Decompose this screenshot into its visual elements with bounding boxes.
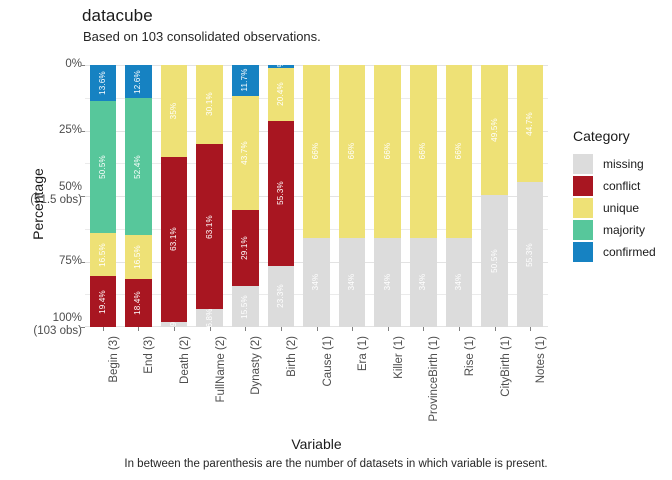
bar-segment-confirmed[interactable]: 12.6% — [125, 65, 152, 98]
bar-segment-label: 34% — [419, 274, 427, 291]
bar-segment-unique[interactable]: 66% — [303, 65, 330, 238]
y-tick-obs: (103 obs) — [33, 325, 82, 338]
bar-stack: 66%34% — [303, 65, 330, 327]
x-axis-tick-mark — [530, 327, 531, 331]
legend-item-label: conflict — [603, 179, 640, 193]
legend-item-label: majority — [603, 223, 645, 237]
legend-color-swatch — [573, 154, 593, 174]
bar-segment-label: 50.5% — [99, 155, 107, 179]
bar-column[interactable]: 44.7%55.3% — [512, 65, 548, 327]
bar-segment-label: 23.3% — [277, 285, 285, 309]
plot-panel: 13.6%50.5%16.5%19.4%12.6%52.4%16.5%18.4%… — [85, 65, 548, 327]
bar-column[interactable]: 66%34% — [441, 65, 477, 327]
bar-column[interactable]: 66%34% — [299, 65, 335, 327]
legend-item-label: confirmed — [603, 245, 656, 259]
y-axis-tick-mark — [81, 327, 85, 328]
bar-column[interactable]: 1%20.4%55.3%23.3% — [263, 65, 299, 327]
bar-stack: 44.7%55.3% — [517, 65, 544, 327]
y-axis-label: Percentage — [30, 144, 46, 264]
bar-stack: 35%63.1%1.9% — [161, 65, 188, 327]
legend-color-swatch — [573, 198, 593, 218]
bar-segment-unique[interactable]: 66% — [410, 65, 437, 238]
bar-segment-label: 55.3% — [277, 182, 285, 206]
x-axis-tick-label: ProvinceBirth (1) — [428, 336, 440, 422]
bar-segment-label: 34% — [312, 274, 320, 291]
bar-segment-unique[interactable]: 35% — [161, 65, 188, 157]
bar-column[interactable]: 30.1%63.1%6.8% — [192, 65, 228, 327]
x-axis-tick-label: Dynasty (2) — [250, 336, 262, 395]
bar-segment-conflict[interactable]: 29.1% — [232, 210, 259, 286]
bar-stack: 66%34% — [374, 65, 401, 327]
legend-item-majority[interactable]: majority — [573, 219, 656, 241]
x-axis-tick-label: Killer (1) — [393, 336, 405, 379]
bar-stack: 30.1%63.1%6.8% — [196, 65, 223, 327]
legend-title: Category — [573, 128, 656, 144]
bar-column[interactable]: 66%34% — [405, 65, 441, 327]
bar-segment-confirmed[interactable]: 13.6% — [90, 65, 117, 101]
bar-segment-label: 34% — [455, 274, 463, 291]
bar-segment-label: 44.7% — [526, 112, 534, 136]
legend-color-swatch — [573, 220, 593, 240]
bar-segment-missing[interactable]: 55.3% — [517, 182, 544, 327]
bar-segment-unique[interactable]: 16.5% — [90, 233, 117, 276]
bar-segment-unique[interactable]: 30.1% — [196, 65, 223, 144]
bar-segment-label: 63.1% — [170, 228, 178, 252]
bar-segment-unique[interactable]: 43.7% — [232, 96, 259, 210]
bar-segment-missing[interactable]: 15.5% — [232, 286, 259, 327]
bar-segment-missing[interactable]: 23.3% — [268, 266, 295, 327]
bar-segment-label: 66% — [312, 143, 320, 160]
bar-segment-label: 6.8% — [206, 309, 214, 327]
bar-segment-label: 11.7% — [241, 69, 249, 92]
bar-segment-majority[interactable]: 50.5% — [90, 101, 117, 233]
bar-segment-label: 16.5% — [99, 243, 107, 267]
bar-segment-label: 52.4% — [134, 155, 142, 179]
bar-column[interactable]: 12.6%52.4%16.5%18.4% — [121, 65, 157, 327]
bar-column[interactable]: 66%34% — [334, 65, 370, 327]
legend-item-confirmed[interactable]: confirmed — [573, 241, 656, 263]
bar-segment-confirmed[interactable]: 11.7% — [232, 65, 259, 96]
bar-stack: 49.5%50.5% — [481, 65, 508, 327]
y-tick-value: 0% — [65, 58, 82, 71]
bar-segment-label: 66% — [384, 143, 392, 160]
bar-segment-unique[interactable]: 20.4% — [268, 68, 295, 121]
x-axis-tick-label: Era (1) — [357, 336, 369, 371]
legend-items: missingconflictuniquemajorityconfirmed — [573, 153, 656, 263]
legend-color-swatch — [573, 176, 593, 196]
bar-segment-missing[interactable]: 34% — [374, 238, 401, 327]
bar-segment-label: 35% — [170, 103, 178, 120]
bar-column[interactable]: 49.5%50.5% — [477, 65, 513, 327]
chart-container: datacube Based on 103 consolidated obser… — [0, 0, 672, 480]
bar-segment-conflict[interactable]: 19.4% — [90, 276, 117, 327]
bar-column[interactable]: 13.6%50.5%16.5%19.4% — [85, 65, 121, 327]
x-axis-tick-mark — [210, 327, 211, 331]
bar-column[interactable]: 66%34% — [370, 65, 406, 327]
legend-item-label: missing — [603, 157, 644, 171]
x-axis-tick-label: Cause (1) — [322, 336, 334, 387]
bar-segment-label: 66% — [419, 143, 427, 160]
bar-segment-label: 29.1% — [241, 236, 249, 260]
x-axis-tick-mark — [138, 327, 139, 331]
bar-segment-label: 20.4% — [277, 82, 285, 106]
bar-segment-conflict[interactable]: 63.1% — [161, 157, 188, 322]
bar-segment-label: 50.5% — [491, 249, 499, 273]
legend-color-swatch — [573, 242, 593, 262]
bar-stack: 66%34% — [339, 65, 366, 327]
x-axis-tick-label: Begin (3) — [108, 336, 120, 383]
legend-item-conflict[interactable]: conflict — [573, 175, 656, 197]
x-axis-label: Variable — [85, 436, 548, 452]
x-axis-tick-label: CityBirth (1) — [500, 336, 512, 397]
x-axis-tick-mark — [352, 327, 353, 331]
bar-segment-label: 49.5% — [491, 118, 499, 142]
bar-segment-label: 15.5% — [241, 295, 249, 319]
bar-segment-majority[interactable]: 52.4% — [125, 98, 152, 235]
y-tick-value: 100% — [33, 312, 82, 325]
x-axis-tick-mark — [495, 327, 496, 331]
bar-segment-label: 34% — [348, 274, 356, 291]
bar-segment-label: 18.4% — [134, 291, 142, 315]
x-axis-tick-label: End (3) — [143, 336, 155, 374]
bar-stack: 66%34% — [446, 65, 473, 327]
x-axis-tick-mark — [174, 327, 175, 331]
y-axis-tick-label: 100%(103 obs) — [33, 312, 82, 338]
y-tick-value: 75% — [59, 255, 82, 268]
bar-segment-label: 34% — [384, 274, 392, 291]
legend-item-label: unique — [603, 201, 639, 215]
bar-segment-label: 43.7% — [241, 141, 249, 165]
x-axis-tick-label: Death (2) — [179, 336, 191, 384]
bar-segment-unique[interactable]: 66% — [374, 65, 401, 238]
plot-caption: In between the parenthesis are the numbe… — [0, 458, 672, 470]
bar-stack: 66%34% — [410, 65, 437, 327]
legend-item-missing[interactable]: missing — [573, 153, 656, 175]
bar-segment-unique[interactable]: 16.5% — [125, 235, 152, 278]
bar-segment-missing[interactable]: 34% — [410, 238, 437, 327]
bar-segment-label: 66% — [455, 143, 463, 160]
plot-subtitle: Based on 103 consolidated observations. — [83, 29, 321, 44]
bar-segment-label: 13.6% — [99, 71, 107, 95]
bar-segment-label: 19.4% — [99, 290, 107, 314]
bar-segment-label: 63.1% — [206, 215, 214, 239]
bar-series-group: 13.6%50.5%16.5%19.4%12.6%52.4%16.5%18.4%… — [85, 65, 548, 327]
x-axis-tick-mark — [388, 327, 389, 331]
bar-segment-missing[interactable]: 34% — [339, 238, 366, 327]
bar-segment-conflict[interactable]: 55.3% — [268, 121, 295, 266]
y-axis-tick-label: 0% — [65, 58, 82, 71]
bar-stack: 11.7%43.7%29.1%15.5% — [232, 65, 259, 327]
bar-segment-missing[interactable]: 34% — [303, 238, 330, 327]
bar-stack: 12.6%52.4%16.5%18.4% — [125, 65, 152, 327]
x-axis-tick-label: FullName (2) — [215, 336, 227, 402]
y-tick-value: 25% — [59, 124, 82, 137]
bar-segment-missing[interactable]: 50.5% — [481, 195, 508, 327]
legend: Category missingconflictuniquemajorityco… — [573, 128, 656, 263]
y-axis-tick-label: 25% — [59, 124, 82, 137]
bar-segment-unique[interactable]: 66% — [339, 65, 366, 238]
bar-segment-conflict[interactable]: 18.4% — [125, 279, 152, 327]
x-axis-tick-mark — [245, 327, 246, 331]
bar-stack: 1%20.4%55.3%23.3% — [268, 65, 295, 327]
bar-column[interactable]: 35%63.1%1.9% — [156, 65, 192, 327]
bar-segment-label: 55.3% — [526, 243, 534, 267]
x-axis-tick-label: Birth (2) — [286, 336, 298, 377]
x-axis-tick-label: Rise (1) — [464, 336, 476, 376]
x-axis-tick-mark — [317, 327, 318, 331]
bar-segment-unique[interactable]: 66% — [446, 65, 473, 238]
bar-segment-missing[interactable]: 34% — [446, 238, 473, 327]
y-axis-tick-label: 75% — [59, 255, 82, 268]
bar-segment-label: 66% — [348, 143, 356, 160]
bar-segment-label: 16.5% — [134, 245, 142, 269]
bar-stack: 13.6%50.5%16.5%19.4% — [90, 65, 117, 327]
legend-item-unique[interactable]: unique — [573, 197, 656, 219]
bar-segment-label: 12.6% — [134, 70, 142, 94]
bar-column[interactable]: 11.7%43.7%29.1%15.5% — [227, 65, 263, 327]
x-axis-tick-mark — [423, 327, 424, 331]
bar-segment-unique[interactable]: 49.5% — [481, 65, 508, 195]
x-axis-tick-mark — [103, 327, 104, 331]
bar-segment-unique[interactable]: 44.7% — [517, 65, 544, 182]
x-axis-tick-mark — [281, 327, 282, 331]
plot-title: datacube — [82, 6, 153, 26]
bar-segment-conflict[interactable]: 63.1% — [196, 144, 223, 309]
x-axis-tick-label: Notes (1) — [535, 336, 547, 383]
bar-segment-missing[interactable]: 6.8% — [196, 309, 223, 327]
x-axis-tick-mark — [459, 327, 460, 331]
bar-segment-label: 30.1% — [206, 93, 214, 117]
